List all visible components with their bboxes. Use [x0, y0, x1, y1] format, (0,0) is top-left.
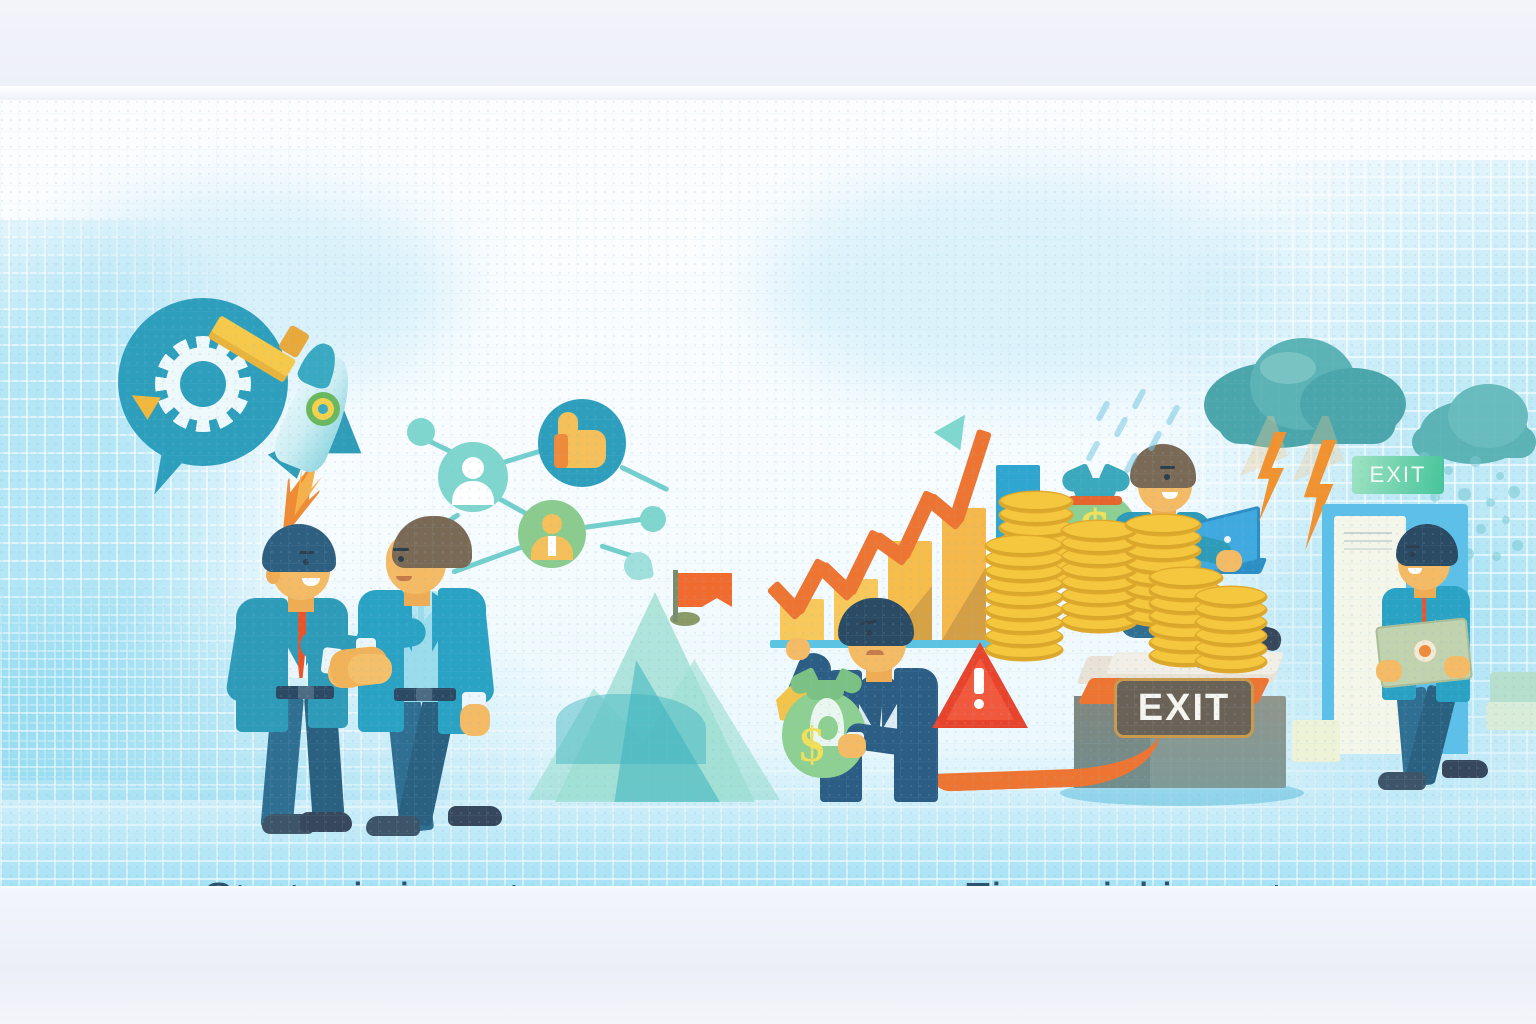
- manager-head-icon: [542, 514, 562, 534]
- eye: [866, 630, 872, 636]
- hand: [1444, 656, 1470, 678]
- hand: [838, 734, 866, 758]
- rain-drop-icon: [1502, 516, 1510, 524]
- eyebrow: [1160, 466, 1175, 469]
- exclamation-dot-icon: [974, 699, 984, 709]
- top-border-band: [0, 0, 1536, 86]
- eye: [398, 556, 404, 562]
- rain-drop-icon: [1444, 466, 1453, 475]
- rain-drop-icon: [1486, 498, 1495, 507]
- flag-icon: [678, 573, 732, 607]
- eye: [1410, 552, 1415, 557]
- eye: [1164, 474, 1170, 480]
- dollar-sign-icon: $: [788, 718, 836, 776]
- mouth-frown: [866, 650, 884, 655]
- rain-drop-icon: [1476, 524, 1486, 534]
- eyebrow: [1406, 545, 1420, 548]
- hand: [1376, 660, 1402, 682]
- coin-icon: [1000, 492, 1072, 512]
- bottom-border-band: [0, 888, 1536, 1024]
- shoe: [366, 816, 420, 836]
- storm-cloud-puff: [1300, 368, 1406, 440]
- storm-cloud-highlight: [1260, 352, 1316, 384]
- coin-icon: [986, 536, 1062, 556]
- thumb-cuff-icon: [554, 434, 568, 468]
- rain-drop-icon: [1508, 486, 1520, 498]
- exit-sign-platform[interactable]: EXIT: [1114, 678, 1254, 738]
- shoe: [1442, 760, 1488, 778]
- shoe: [300, 812, 352, 832]
- hand: [786, 638, 810, 660]
- flag-pole-icon: [673, 570, 678, 622]
- belt-buckle: [416, 688, 432, 701]
- coin-icon: [1126, 515, 1200, 535]
- coin-icon: [1062, 521, 1136, 541]
- network-node-icon: [407, 418, 435, 446]
- gear-hole-icon: [180, 361, 226, 407]
- door-detail-lines: [1344, 532, 1392, 534]
- exit-sign-platform-label: EXIT: [1138, 687, 1230, 730]
- rain-drop-icon: [1512, 540, 1523, 551]
- decorative-box: [1292, 720, 1340, 762]
- rain-drop-icon: [1470, 456, 1481, 467]
- mouth: [396, 576, 412, 581]
- decorative-box: [1486, 702, 1536, 730]
- top-border-divider: [0, 86, 1536, 100]
- rain-drop-icon: [1458, 488, 1471, 501]
- laptop-logo-icon: [1414, 640, 1436, 662]
- belt-buckle: [298, 686, 314, 699]
- coin-icon: [1196, 587, 1266, 607]
- coin-icon: [1150, 568, 1222, 588]
- shoe: [448, 806, 502, 826]
- exclamation-mark-icon: [974, 668, 984, 694]
- eyebrow: [299, 551, 314, 554]
- exit-sign-wall[interactable]: EXIT: [1352, 456, 1444, 494]
- rain-drop-icon: [1496, 472, 1504, 480]
- eyebrow: [393, 548, 409, 551]
- hand: [1216, 550, 1242, 572]
- illustration-stage: $: [0, 0, 1536, 1024]
- handshake-gesture-highlight: [348, 654, 392, 684]
- network-node-icon: [640, 506, 666, 532]
- exit-sign-wall-label: EXIT: [1370, 462, 1427, 488]
- illustration-canvas: $: [0, 100, 1536, 888]
- money-bag-neck: [806, 680, 844, 700]
- user-head-icon: [462, 457, 484, 479]
- manager-tie-icon: [548, 536, 556, 556]
- rocket-window-core-icon: [318, 404, 328, 414]
- eye: [303, 559, 309, 565]
- rain-cloud-puff: [1448, 384, 1528, 448]
- hand: [460, 704, 490, 736]
- rain-drop-icon: [1492, 552, 1501, 561]
- shoe: [1378, 772, 1426, 790]
